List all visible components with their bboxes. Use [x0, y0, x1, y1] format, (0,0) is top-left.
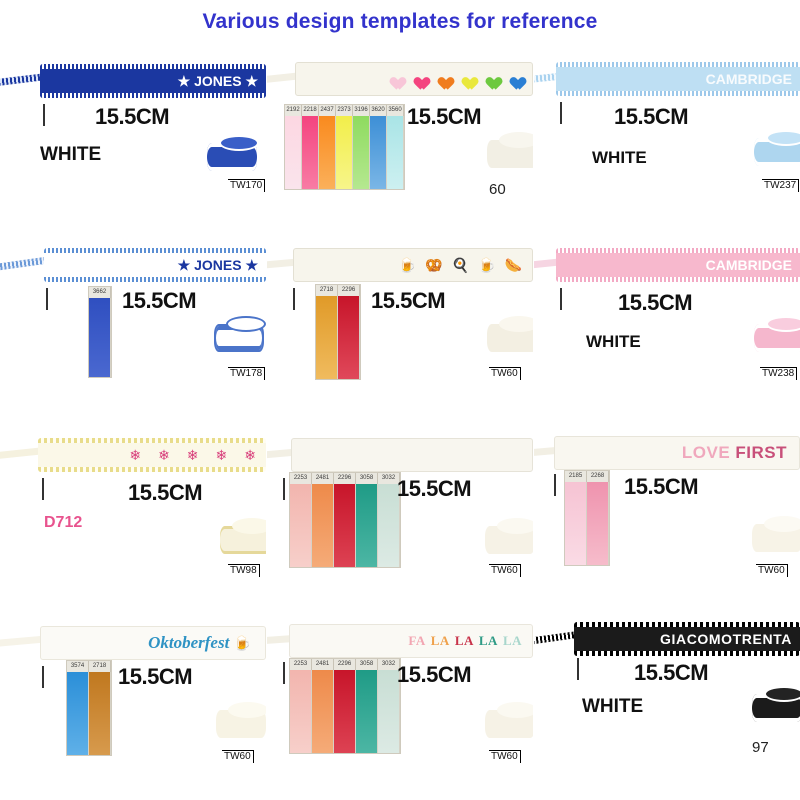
heart-icon: [411, 72, 426, 86]
template-card-r3c1[interactable]: ❄ ❄ ❄ ❄ ❄ 15.5CM D712 TW98: [0, 424, 266, 612]
ribbon-roll-thumb: [752, 314, 800, 356]
size-label: 15.5CM: [624, 474, 698, 500]
template-card-r4c2[interactable]: FA LA LA LA LA 2253 2481 2296 3058 3032 …: [267, 612, 533, 800]
page-title: Various design templates for reference: [0, 10, 800, 34]
template-card-r1c2[interactable]: 2192 2218 2437 2373 3196 3620 3560 15.5C…: [267, 48, 533, 236]
design-code-label: D712: [44, 514, 82, 532]
heart-icon: [387, 72, 402, 86]
band-label-part-la4: LA: [503, 633, 522, 649]
bracelet-band: CAMBRIDGE: [556, 248, 800, 282]
thread-color-card: 2253 2481 2296 3058 3032: [289, 658, 401, 754]
thread-swatch: 3058: [356, 659, 378, 753]
beer-mug-icon: 🍺: [399, 258, 416, 272]
bracelet-band: ★ JONES ★: [44, 248, 266, 282]
measure-tick: [42, 666, 44, 688]
size-label: 15.5CM: [397, 476, 471, 502]
size-label: 15.5CM: [407, 104, 481, 130]
thread-swatch: 2268: [587, 471, 609, 565]
band-label-part-love: LOVE: [682, 443, 736, 462]
thread-swatch: 2481: [312, 659, 334, 753]
cord-tail: [0, 256, 50, 270]
measure-tick: [46, 288, 48, 310]
ribbon-roll-thumb: [485, 130, 533, 172]
thread-swatch: 2296: [334, 659, 356, 753]
thread-swatch: 3620: [370, 105, 387, 189]
band-label-text: Oktoberfest: [148, 633, 229, 652]
band-label-part-fa: FA: [408, 633, 425, 649]
size-label: 15.5CM: [614, 104, 688, 130]
ribbon-roll-thumb: [212, 314, 266, 356]
heart-icon: [483, 72, 498, 86]
template-card-r1c1[interactable]: ★ JONES ★ 15.5CM WHITE TW170: [0, 48, 266, 236]
bow-icon: ❄: [216, 448, 228, 462]
thread-swatch: 2718: [89, 661, 111, 755]
band-label: FA LA LA LA LA: [290, 633, 532, 649]
heart-icon: [435, 72, 450, 86]
ribbon-roll-thumb: [752, 128, 800, 170]
template-card-r4c1[interactable]: Oktoberfest 🍺 3574 2718 15.5CM TW60: [0, 612, 266, 800]
color-label: WHITE: [586, 332, 641, 352]
band-edge-bottom: [556, 91, 800, 96]
ribbon-roll-thumb: [483, 516, 533, 558]
tw-code-tag: TW170: [228, 179, 265, 192]
thread-swatch: 3058: [356, 473, 378, 567]
template-card-r3c2[interactable]: 2253 2481 2296 3058 3032 15.5CM TW60: [267, 424, 533, 612]
bracelet-band: ★ JONES ★: [40, 64, 266, 98]
tw-code-tag: TW60: [489, 367, 521, 380]
tw-code-tag: TW98: [228, 564, 260, 577]
bracelet-band: ❄ ❄ ❄ ❄ ❄: [38, 438, 266, 472]
bow-motif-row: ❄ ❄ ❄ ❄ ❄: [38, 448, 266, 462]
thread-swatch: 2253: [290, 659, 312, 753]
tw-code-tag: TW60: [222, 750, 254, 763]
size-label: 15.5CM: [618, 290, 692, 316]
ribbon-roll-thumb: [485, 314, 533, 356]
size-label: 15.5CM: [371, 288, 445, 314]
measure-tick: [577, 658, 579, 680]
thread-color-card: 2185 2268: [564, 470, 610, 566]
template-card-r1c3[interactable]: CAMBRIDGE 15.5CM WHITE TW237: [534, 48, 800, 236]
band-label: CAMBRIDGE: [556, 71, 800, 87]
thread-swatch: 3574: [67, 661, 89, 755]
ribbon-roll-thumb: [218, 516, 266, 558]
template-card-r2c1[interactable]: ★ JONES ★ 3662 15.5CM TW178: [0, 236, 266, 424]
band-label: ★ JONES ★: [40, 73, 266, 90]
tw-code-tag: TW238: [760, 367, 797, 380]
tw-code-tag: TW237: [762, 179, 799, 192]
template-card-r2c3[interactable]: CAMBRIDGE 15.5CM WHITE TW238: [534, 236, 800, 424]
tw-code-tag: TW60: [756, 564, 788, 577]
template-grid: ★ JONES ★ 15.5CM WHITE TW170: [0, 48, 800, 800]
band-label: Oktoberfest 🍺: [41, 633, 265, 653]
hotdog-icon: 🌭: [505, 258, 522, 272]
bracelet-band: CAMBRIDGE: [556, 62, 800, 96]
measure-tick: [560, 288, 562, 310]
beer-mug-icon: 🍺: [234, 637, 251, 652]
cord-tail: [0, 447, 42, 459]
thread-swatch: 2718: [316, 285, 338, 379]
measure-tick: [43, 104, 45, 126]
heart-icon: [459, 72, 474, 86]
measure-tick: [560, 102, 562, 124]
bracelet-band: LOVE FIRST: [554, 436, 800, 470]
measure-tick: [554, 474, 556, 496]
tw-code-tag: TW60: [489, 564, 521, 577]
size-label: 15.5CM: [122, 288, 196, 314]
ribbon-roll-thumb: [750, 514, 800, 556]
pretzel-icon: 🥨: [425, 258, 442, 272]
thread-swatch: 2192: [285, 105, 302, 189]
thread-swatch: 2218: [302, 105, 319, 189]
band-label: CAMBRIDGE: [556, 257, 800, 273]
cord-tail: [0, 636, 42, 647]
bow-icon: ❄: [244, 448, 256, 462]
measure-tick: [283, 662, 285, 684]
band-edge-bottom: [44, 277, 266, 282]
thread-swatch: 3196: [353, 105, 370, 189]
bow-icon: ❄: [187, 448, 199, 462]
thread-color-card: 2718 2296: [315, 284, 361, 380]
color-label: WHITE: [592, 148, 647, 168]
sausage-pan-icon: 🍳: [452, 258, 469, 272]
size-label: 15.5CM: [634, 660, 708, 686]
ribbon-roll-thumb: [750, 684, 800, 726]
template-card-r4c3[interactable]: GIACOMOTRENTA 15.5CM WHITE 97: [534, 612, 800, 800]
band-label: LOVE FIRST: [555, 443, 799, 463]
color-label: WHITE: [40, 144, 101, 166]
band-edge-bottom: [574, 651, 800, 656]
bracelet-band: [291, 438, 533, 472]
band-label-part-first: FIRST: [735, 443, 787, 462]
band-edge-bottom: [38, 467, 266, 472]
thread-color-card: 2192 2218 2437 2373 3196 3620 3560: [284, 104, 405, 190]
measure-tick: [42, 478, 44, 500]
band-label-part-la3: LA: [479, 633, 498, 649]
thread-color-card: 3574 2718: [66, 660, 112, 756]
bracelet-band: 🍺 🥨 🍳 🍺 🌭: [293, 248, 533, 282]
thread-swatch: 2296: [338, 285, 360, 379]
band-edge-bottom: [556, 277, 800, 282]
size-label: 15.5CM: [128, 480, 202, 506]
template-card-r3c3[interactable]: LOVE FIRST 2185 2268 15.5CM TW60: [534, 424, 800, 612]
size-label: 15.5CM: [118, 664, 192, 690]
ribbon-roll-thumb: [483, 700, 533, 742]
ribbon-roll-thumb: [214, 700, 266, 742]
thread-swatch: 2253: [290, 473, 312, 567]
color-label: WHITE: [582, 696, 643, 718]
thread-color-card: 3662: [88, 286, 112, 378]
heart-icon: [507, 72, 522, 86]
thread-swatch: 2437: [319, 105, 336, 189]
thread-swatch: 2296: [334, 473, 356, 567]
bow-icon: ❄: [129, 448, 141, 462]
tw-code-tag: TW60: [489, 750, 521, 763]
thread-swatch: 3662: [89, 287, 111, 377]
ribbon-roll-thumb: [205, 133, 261, 175]
band-edge-bottom: [40, 93, 266, 98]
bracelet-band: GIACOMOTRENTA: [574, 622, 800, 656]
band-label: GIACOMOTRENTA: [574, 631, 800, 647]
size-label: 15.5CM: [397, 662, 471, 688]
thread-swatch: 2185: [565, 471, 587, 565]
bracelet-band: Oktoberfest 🍺: [40, 626, 266, 660]
bracelet-band: FA LA LA LA LA: [289, 624, 533, 658]
extra-number: 97: [752, 739, 769, 756]
band-label-part-la2: LA: [455, 633, 474, 649]
measure-tick: [293, 288, 295, 310]
thread-swatch: 3560: [387, 105, 404, 189]
thread-color-card: 2253 2481 2296 3058 3032: [289, 472, 401, 568]
bow-icon: ❄: [158, 448, 170, 462]
extra-number: 60: [489, 181, 506, 198]
band-label: ★ JONES ★: [44, 257, 266, 274]
bracelet-band: [295, 62, 533, 96]
thread-swatch: 2481: [312, 473, 334, 567]
heart-motif-row: [296, 72, 532, 86]
thread-swatch: 2373: [336, 105, 353, 189]
beer-mug-icon-2: 🍺: [478, 258, 495, 272]
template-card-r2c2[interactable]: 🍺 🥨 🍳 🍺 🌭 2718 2296 15.5CM TW60: [267, 236, 533, 424]
tw-code-tag: TW178: [228, 367, 265, 380]
food-motif-row: 🍺 🥨 🍳 🍺 🌭: [294, 258, 532, 272]
size-label: 15.5CM: [95, 104, 169, 130]
band-label-part-la1: LA: [431, 633, 450, 649]
measure-tick: [283, 478, 285, 500]
